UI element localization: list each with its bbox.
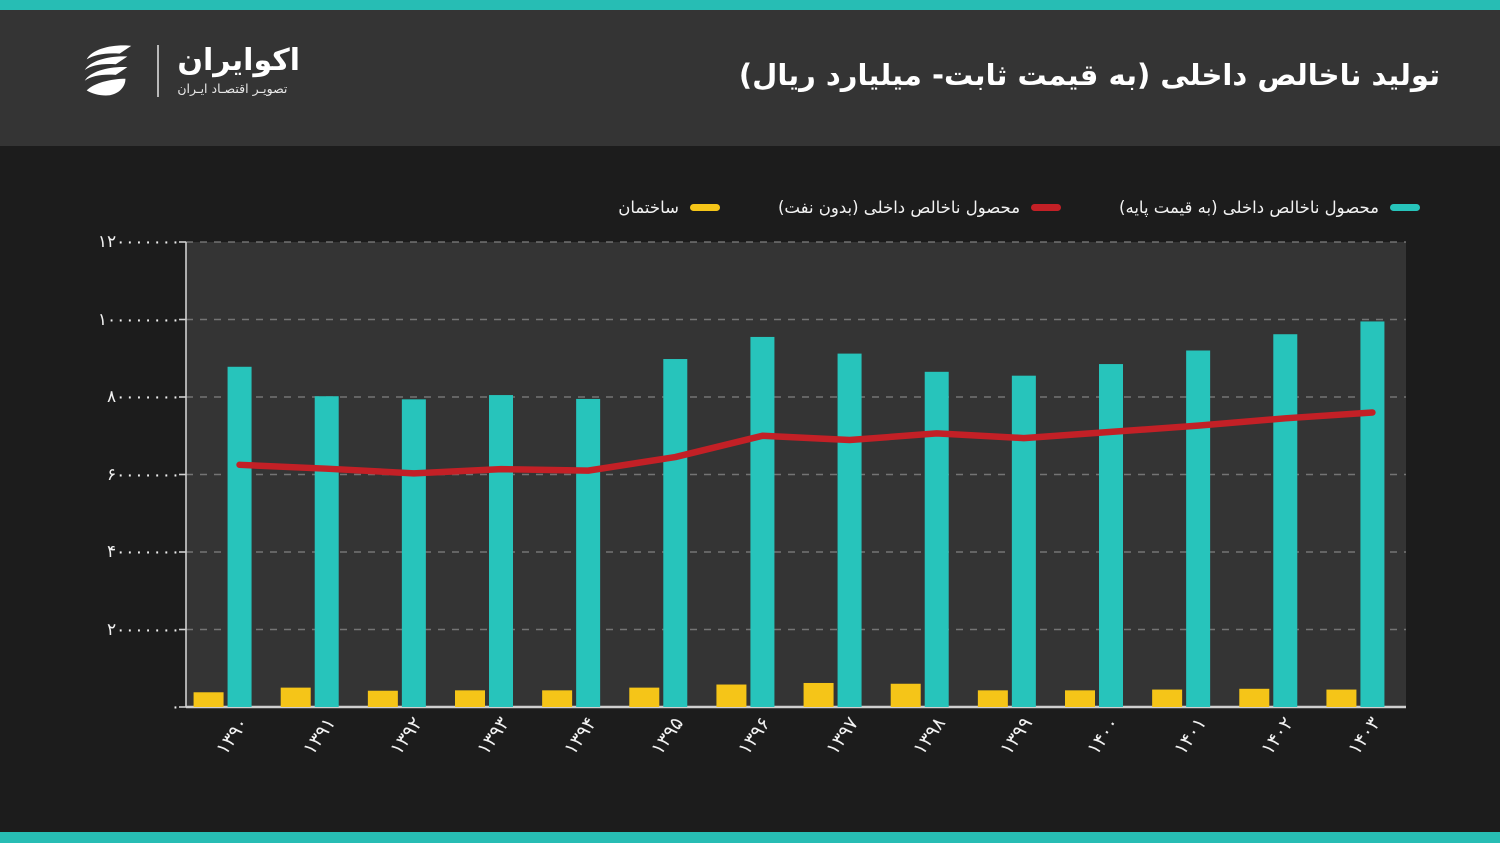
legend-label-construction: ساختمان [618,198,679,217]
x-axis-tick-label: ۱۴۰۳ [1344,713,1385,759]
bar-gdp-basic[interactable] [1273,334,1297,707]
line-gdp-nonoil[interactable] [240,413,1373,474]
bar-construction[interactable] [804,683,834,707]
bar-construction[interactable] [716,685,746,707]
x-axis-tick-label: ۱۳۹۵ [647,713,688,759]
bar-gdp-basic[interactable] [402,399,426,707]
bar-construction[interactable] [1065,690,1095,707]
legend-item-gdp-nonoil[interactable]: محصول ناخالص داخلی (بدون نفت) [778,198,1061,217]
brand-divider [157,45,159,97]
bar-gdp-basic[interactable] [1186,351,1210,708]
x-axis-tick-label: ۱۳۹۶ [734,713,775,759]
legend-label-gdp-basic: محصول ناخالص داخلی (به قیمت پایه) [1119,198,1379,217]
legend-swatch-red [1031,204,1061,211]
y-axis-tick-label: ۸۰۰۰۰۰۰۰ [107,387,180,407]
bar-construction[interactable] [455,690,485,707]
bar-construction[interactable] [978,690,1008,707]
bar-gdp-basic[interactable] [1099,364,1123,707]
bar-gdp-basic[interactable] [1360,321,1384,707]
y-axis-tick-label: ۱۰۰۰۰۰۰۰۰ [98,310,180,330]
y-axis-tick-label: ۶۰۰۰۰۰۰۰ [107,465,180,485]
x-axis-tick-label: ۱۳۹۲ [386,713,427,759]
plot-background [186,242,1406,707]
bar-gdp-basic[interactable] [228,367,252,707]
y-axis-tick-label: ۰ [171,697,180,717]
x-axis-tick-label: ۱۳۹۹ [996,713,1037,759]
bar-gdp-basic[interactable] [489,395,513,707]
brand-logo: اکوایران تصویـر اقتصـاد ایـران [77,40,300,102]
bar-construction[interactable] [1326,690,1356,707]
legend-item-gdp-basic[interactable]: محصول ناخالص داخلی (به قیمت پایه) [1119,198,1420,217]
x-axis-tick-label: ۱۳۹۸ [908,713,949,759]
bar-construction[interactable] [1152,690,1182,707]
bar-construction[interactable] [194,692,224,707]
bar-construction[interactable] [368,691,398,707]
bottom-accent-bar [0,832,1500,843]
legend-label-gdp-nonoil: محصول ناخالص داخلی (بدون نفت) [778,198,1020,217]
x-axis-tick-label: ۱۳۹۳ [473,713,514,759]
bar-construction[interactable] [281,688,311,707]
brand-text: اکوایران تصویـر اقتصـاد ایـران [177,46,300,96]
bar-gdp-basic[interactable] [663,359,687,707]
brand-name: اکوایران [177,46,300,76]
brand-tagline: تصویـر اقتصـاد ایـران [177,83,287,96]
top-accent-bar [0,0,1500,10]
bar-construction[interactable] [629,688,659,707]
bar-gdp-basic[interactable] [750,337,774,707]
legend-swatch-teal [1390,204,1420,211]
chart-legend: محصول ناخالص داخلی (به قیمت پایه) محصول … [618,198,1420,217]
bar-gdp-basic[interactable] [925,372,949,707]
bar-gdp-basic[interactable] [576,399,600,707]
bar-construction[interactable] [542,690,572,707]
x-axis-tick-label: ۱۳۹۱ [298,713,339,759]
x-axis-tick-label: ۱۴۰۰ [1083,713,1124,759]
y-axis-tick-label: ۴۰۰۰۰۰۰۰ [107,542,180,562]
legend-swatch-yellow [690,204,720,211]
legend-item-construction[interactable]: ساختمان [618,198,720,217]
bar-gdp-basic[interactable] [315,396,339,707]
x-axis-tick-label: ۱۴۰۱ [1170,713,1211,759]
x-axis-tick-label: ۱۳۹۰ [211,713,252,759]
y-axis-tick-label: ۱۲۰۰۰۰۰۰۰ [98,232,180,252]
eco-iran-swoosh-logo-icon [77,40,139,102]
header-bar: اکوایران تصویـر اقتصـاد ایـران تولید ناخ… [0,10,1500,146]
bar-construction[interactable] [1239,689,1269,707]
bar-gdp-basic[interactable] [838,354,862,707]
bar-construction[interactable] [891,684,921,707]
x-axis-tick-label: ۱۳۹۷ [821,713,862,759]
x-axis-tick-label: ۱۴۰۲ [1257,713,1298,759]
page-title: تولید ناخالص داخلی (به قیمت ثابت- میلیار… [739,58,1440,92]
y-axis-tick-label: ۲۰۰۰۰۰۰۰ [107,620,180,640]
x-axis-tick-label: ۱۳۹۴ [560,713,601,759]
bar-gdp-basic[interactable] [1012,376,1036,707]
